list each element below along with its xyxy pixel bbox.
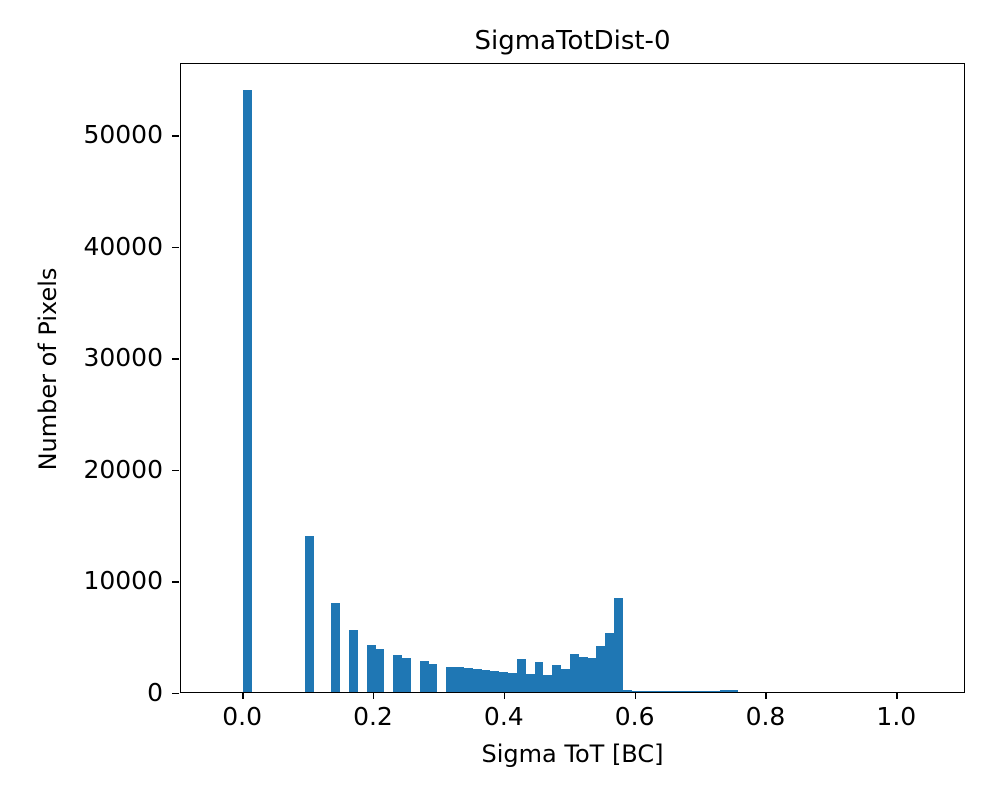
histogram-bar: [729, 690, 738, 692]
histogram-bar: [588, 658, 597, 692]
x-tick: [896, 693, 897, 699]
y-tick-label: 20000: [0, 455, 163, 485]
histogram-bars: [181, 64, 964, 692]
histogram-bar: [526, 674, 535, 692]
histogram-bar: [685, 691, 694, 692]
y-tick: [172, 693, 179, 694]
histogram-bar: [702, 691, 711, 692]
histogram-bar: [711, 691, 720, 692]
y-tick-label: 30000: [0, 343, 163, 373]
histogram-bar: [482, 670, 491, 692]
histogram-bar: [641, 691, 650, 692]
x-tick-label: 0.8: [705, 702, 825, 732]
histogram-bar: [694, 691, 703, 692]
histogram-bar: [393, 655, 402, 692]
histogram-bar: [376, 649, 385, 692]
histogram-bar: [446, 667, 455, 692]
x-tick-label: 0.2: [313, 702, 433, 732]
y-tick: [172, 470, 179, 471]
histogram-bar: [658, 691, 667, 692]
y-tick-label: 0: [0, 678, 163, 708]
histogram-bar: [579, 657, 588, 692]
histogram-bar: [614, 598, 623, 692]
y-tick: [172, 358, 179, 359]
histogram-bar: [676, 691, 685, 692]
y-tick-label: 50000: [0, 120, 163, 150]
histogram-bar: [605, 633, 614, 692]
histogram-bar: [649, 691, 658, 692]
x-tick: [242, 693, 243, 699]
histogram-bar: [455, 667, 464, 692]
y-axis-label: Number of Pixels: [34, 219, 62, 519]
x-tick-label: 1.0: [836, 702, 956, 732]
histogram-bar: [517, 659, 526, 692]
histogram-bar: [499, 672, 508, 692]
page-title: SigmaTotDist-0: [180, 26, 965, 56]
histogram-bar: [349, 630, 358, 692]
histogram-bar: [420, 661, 429, 692]
y-tick-label: 10000: [0, 566, 163, 596]
histogram-bar: [490, 671, 499, 692]
y-tick-label: 40000: [0, 232, 163, 262]
histogram-bar: [464, 668, 473, 692]
histogram-bar: [331, 603, 340, 692]
histogram-bar: [570, 654, 579, 692]
histogram-bar: [305, 536, 314, 692]
x-tick: [765, 693, 766, 699]
histogram-bar: [508, 673, 517, 692]
y-tick: [172, 135, 179, 136]
histogram-bar: [473, 669, 482, 692]
y-tick: [172, 581, 179, 582]
x-tick-label: 0.0: [182, 702, 302, 732]
plot-area: [180, 63, 965, 693]
x-axis-label: Sigma ToT [BC]: [180, 740, 965, 768]
histogram-bar: [429, 664, 438, 692]
matplotlib-figure: SigmaTotDist-0 0.00.20.40.60.81.0 010000…: [0, 0, 1000, 800]
histogram-bar: [367, 645, 376, 692]
histogram-bar: [402, 658, 411, 692]
histogram-bar: [535, 662, 544, 692]
histogram-bar: [623, 690, 632, 692]
histogram-bar: [543, 675, 552, 692]
histogram-bar: [552, 665, 561, 692]
histogram-bar: [667, 691, 676, 692]
y-tick: [172, 247, 179, 248]
histogram-bar: [561, 669, 570, 692]
x-tick-label: 0.4: [444, 702, 564, 732]
histogram-bar: [720, 690, 729, 692]
x-tick-label: 0.6: [575, 702, 695, 732]
histogram-bar: [596, 646, 605, 692]
x-tick: [373, 693, 374, 699]
histogram-bar: [632, 691, 641, 692]
x-tick: [635, 693, 636, 699]
histogram-bar: [243, 90, 252, 692]
x-tick: [504, 693, 505, 699]
